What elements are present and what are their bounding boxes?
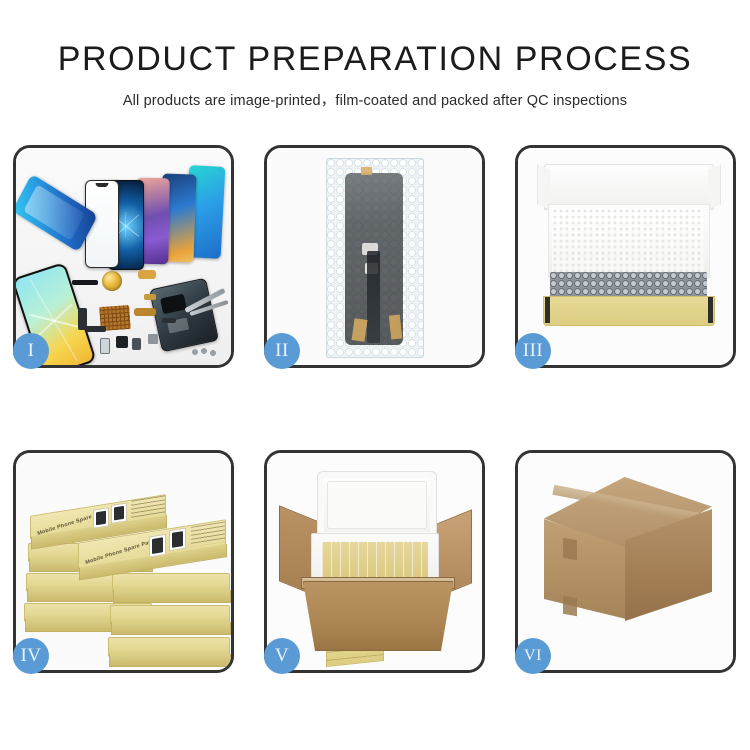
retail-box-stack: Mobile Phone Spare Parts Mobile Phone Sp… (20, 469, 230, 659)
screws-part (191, 347, 217, 357)
tape-strip (388, 314, 401, 339)
process-step-grid: I II (13, 145, 737, 673)
step-6-image (518, 453, 733, 670)
spare-part (100, 338, 110, 354)
page-header: PRODUCT PREPARATION PROCESS All products… (0, 0, 750, 110)
spare-part (162, 318, 176, 323)
carton-body (303, 581, 453, 651)
vibration-motor-part (102, 271, 122, 291)
step-5-image (267, 453, 482, 670)
bubble-wrap-bag (326, 158, 424, 358)
kraft-tray-front (543, 296, 715, 326)
carton-seam-tape (563, 596, 577, 616)
tape-strip (351, 318, 367, 342)
tape-strip (361, 167, 372, 175)
process-step-1[interactable]: I (13, 145, 234, 368)
step-2-image (267, 148, 482, 365)
spare-part (116, 336, 128, 348)
foam-sheet (552, 208, 704, 274)
step-badge-5: V (264, 638, 300, 674)
step-badge-4: IV (13, 638, 49, 674)
step-4-image: Mobile Phone Spare Parts Mobile Phone Sp… (16, 453, 231, 670)
spare-part (144, 294, 156, 300)
step-badge-3: III (515, 333, 551, 369)
step-badge-2: II (264, 333, 300, 369)
carton-seam-tape (563, 538, 577, 560)
spare-part (86, 326, 106, 332)
spare-part (134, 308, 156, 316)
step-3-image (518, 148, 733, 365)
step-badge-6: VI (515, 638, 551, 674)
flex-cable-part (367, 251, 380, 343)
page-title: PRODUCT PREPARATION PROCESS (0, 0, 750, 78)
spare-part (148, 334, 158, 344)
page-subtitle: All products are image-printed，film-coat… (0, 78, 750, 110)
step-badge-1: I (13, 333, 49, 369)
spare-part (138, 270, 156, 279)
step-1-image (16, 148, 231, 365)
yellow-boxes-inside (322, 542, 428, 582)
process-step-3[interactable]: III (515, 145, 736, 368)
spare-part (132, 338, 141, 350)
styrofoam-lid (317, 471, 437, 539)
spare-part (72, 280, 98, 285)
process-step-2[interactable]: II (264, 145, 485, 368)
process-step-4[interactable]: Mobile Phone Spare Parts Mobile Phone Sp… (13, 450, 234, 673)
process-step-5[interactable]: V (264, 450, 485, 673)
process-step-6[interactable]: VI (515, 450, 736, 673)
